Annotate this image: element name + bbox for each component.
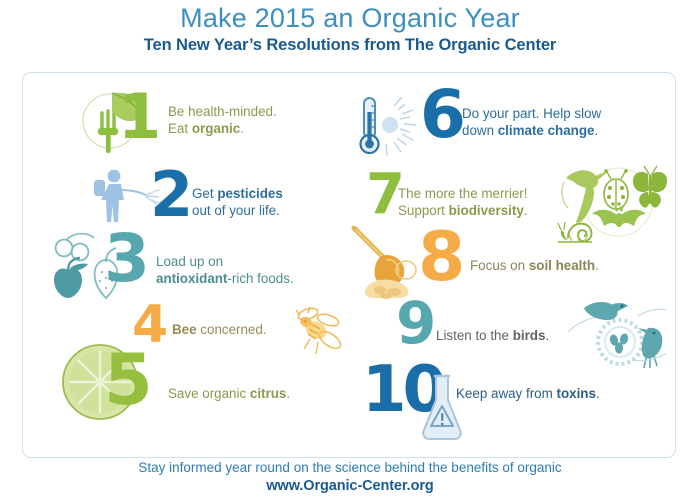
resolution-number-5: 5	[104, 352, 151, 409]
resolution-number-8: 8	[418, 230, 463, 286]
resolution-1-line1: Be health-minded.	[168, 104, 277, 119]
resolution-8-line1-suffix: .	[595, 258, 599, 273]
resolution-2-line1-prefix: Get	[192, 186, 217, 201]
resolution-text-2: Get pesticides out of your life.	[192, 186, 382, 220]
resolution-number-9: 9	[396, 300, 434, 348]
resolution-3-line2-suffix: -rich foods.	[227, 271, 293, 286]
resolution-5-line1-bold: citrus	[250, 386, 286, 401]
resolution-6-line2-prefix: down	[462, 123, 498, 138]
bee-icon	[286, 306, 352, 365]
resolution-4-line1-bold: Bee	[172, 322, 197, 337]
resolution-1-line2-bold: organic	[192, 121, 240, 136]
resolution-4-line1-suffix: concerned.	[197, 322, 267, 337]
resolution-2-line1-bold: pesticides	[217, 186, 283, 201]
resolution-7-line2-prefix: Support	[398, 203, 449, 218]
resolution-text-3: Load up on antioxidant-rich foods.	[156, 254, 366, 288]
resolution-2-line2: out of your life.	[192, 203, 280, 218]
footer-url[interactable]: www.Organic-Center.org	[0, 477, 700, 496]
resolution-text-8: Focus on soil health.	[470, 258, 670, 275]
poster-footer: Stay informed year round on the science …	[0, 460, 700, 496]
resolution-3-line2-bold: antioxidant	[156, 271, 227, 286]
resolution-9-line1-bold: birds	[513, 328, 546, 343]
resolution-5-line1-suffix: .	[286, 386, 290, 401]
flask-warning-icon	[418, 372, 466, 449]
birds-nest-icon	[562, 296, 672, 377]
resolution-7-line2-suffix: .	[524, 203, 528, 218]
resolution-text-1: Be health-minded. Eat organic.	[168, 104, 358, 138]
resolution-3-line1: Load up on	[156, 254, 223, 269]
resolution-7-line2-bold: biodiversity	[449, 203, 524, 218]
resolution-text-6: Do your part. Help slow down climate cha…	[462, 106, 682, 140]
resolution-number-3: 3	[104, 232, 148, 286]
page-subtitle: Ten New Year’s Resolutions from The Orga…	[0, 36, 700, 54]
infographic-poster: Make 2015 an Organic Year Ten New Year’s…	[0, 0, 700, 500]
resolution-6-line2-suffix: .	[594, 123, 598, 138]
resolution-9-line1-prefix: Listen to the	[436, 328, 513, 343]
resolution-5-line1-prefix: Save organic	[168, 386, 250, 401]
resolution-number-2: 2	[150, 170, 191, 221]
page-title: Make 2015 an Organic Year	[0, 4, 700, 33]
resolution-8-line1-bold: soil health	[529, 258, 595, 273]
biodiversity-icon	[556, 160, 682, 251]
resolution-10-line1-bold: toxins	[556, 386, 595, 401]
resolution-number-1: 1	[118, 92, 159, 143]
resolution-text-5: Save organic citrus.	[168, 386, 368, 403]
resolution-number-6: 6	[420, 88, 464, 142]
resolution-6-line1: Do your part. Help slow	[462, 106, 601, 121]
resolution-text-10: Keep away from toxins.	[456, 386, 666, 403]
footer-tagline: Stay informed year round on the science …	[0, 460, 700, 477]
resolution-8-line1-prefix: Focus on	[470, 258, 529, 273]
poster-header: Make 2015 an Organic Year Ten New Year’s…	[0, 0, 700, 54]
resolution-1-line2-suffix: .	[240, 121, 244, 136]
resolution-1-line2-prefix: Eat	[168, 121, 192, 136]
thermometer-sun-icon	[356, 92, 420, 167]
resolution-9-line1-suffix: .	[545, 328, 549, 343]
resolution-7-line1: The more the merrier!	[398, 186, 527, 201]
resolution-10-line1-prefix: Keep away from	[456, 386, 556, 401]
resolution-10-line1-suffix: .	[596, 386, 600, 401]
resolution-6-line2-bold: climate change	[498, 123, 595, 138]
